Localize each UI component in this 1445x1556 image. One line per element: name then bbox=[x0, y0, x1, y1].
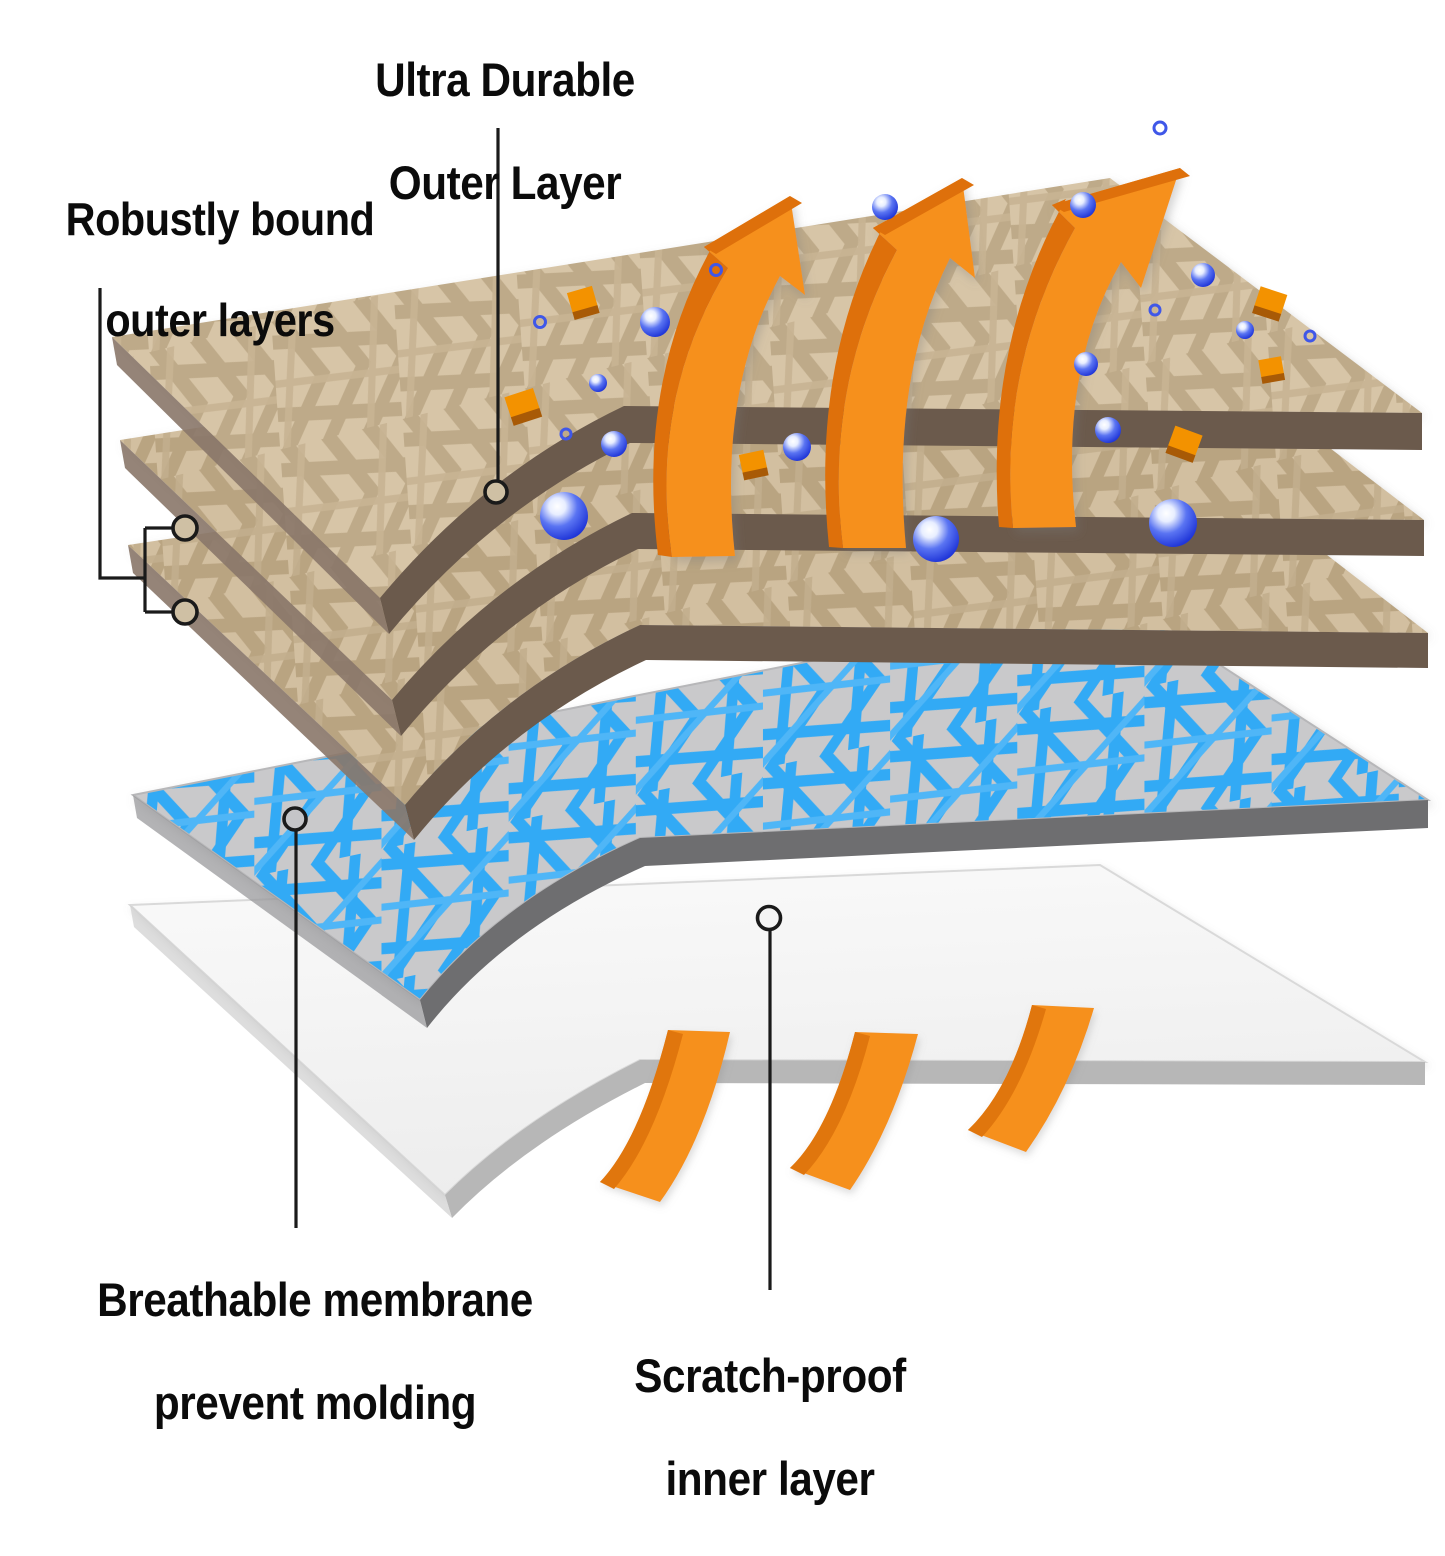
label-ultra-durable-line1: Ultra Durable bbox=[303, 54, 708, 106]
diagram-canvas: Ultra Durable Outer Layer Robustly bound… bbox=[0, 0, 1445, 1421]
label-scratch-proof-line2: inner layer bbox=[577, 1453, 964, 1505]
label-breathable-line1: Breathable membrane bbox=[23, 1274, 608, 1326]
label-robustly-bound-line1: Robustly bound bbox=[13, 194, 427, 245]
label-scratch-proof-inner-layer: Scratch-proof inner layer bbox=[577, 1298, 964, 1556]
label-breathable-membrane: Breathable membrane prevent molding bbox=[23, 1222, 608, 1480]
label-robustly-bound-line2: outer layers bbox=[13, 295, 427, 346]
label-robustly-bound-outer-layers: Robustly bound outer layers bbox=[13, 143, 427, 396]
label-scratch-proof-line1: Scratch-proof bbox=[577, 1350, 964, 1402]
